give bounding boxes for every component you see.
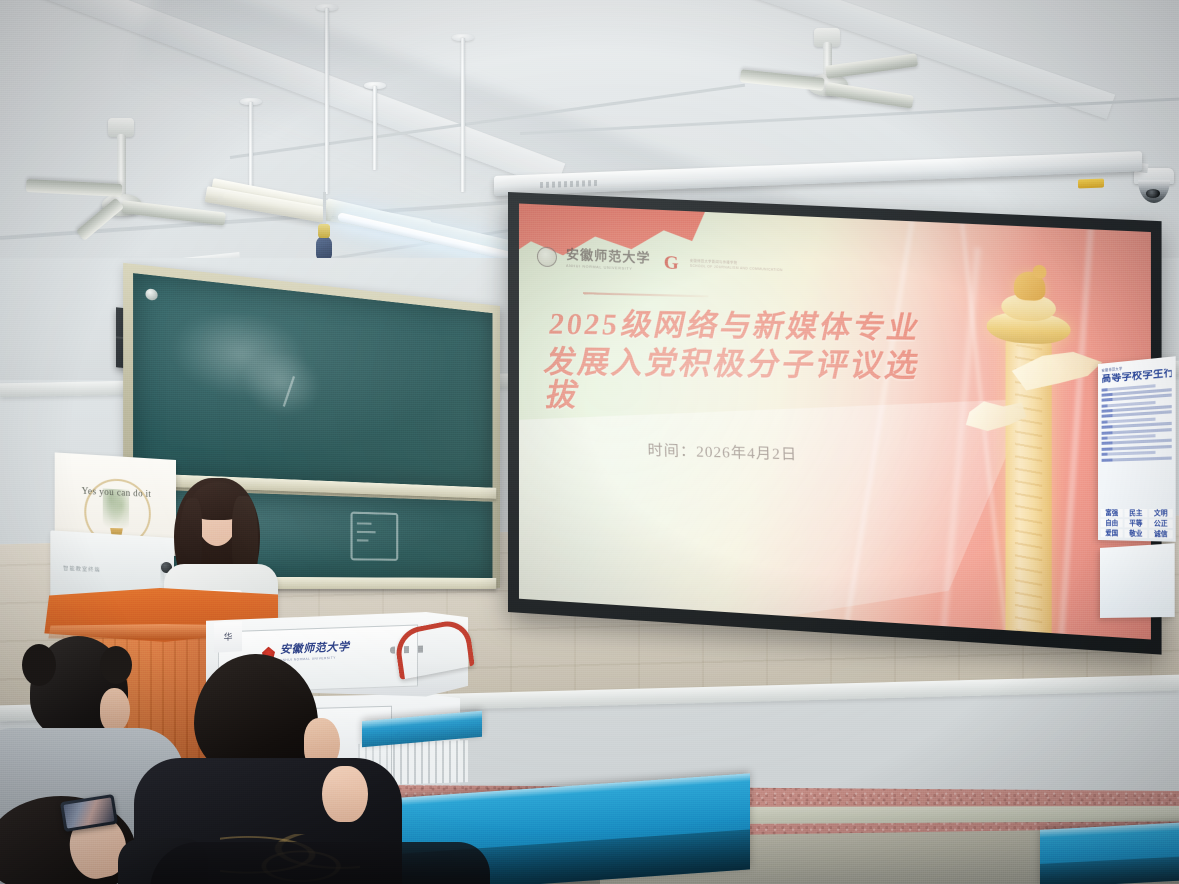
chalkboard-upper-panel <box>133 273 492 490</box>
slide-logo-name-cn: 安徽师范大学 <box>566 248 651 265</box>
value-cell: 敬业 <box>1124 529 1147 538</box>
slide-title-line-1: 2025级网络与新媒体专业 <box>549 309 950 346</box>
value-cell: 爱国 <box>1101 529 1123 538</box>
value-cell: 公正 <box>1149 519 1173 528</box>
hanger-rod-4 <box>461 38 465 192</box>
curly-hair-tuft <box>22 644 56 686</box>
hanger-rod-3 <box>373 86 377 170</box>
slide-university-logo: 安徽师范大学 ANHUI NORMAL UNIVERSITY G 安徽师范大学新… <box>537 246 783 278</box>
slide-title: 2025级网络与新媒体专业 发展入党积极分子评议选拔 <box>549 301 949 425</box>
value-cell: 平等 <box>1124 519 1147 528</box>
student-1-face <box>100 688 130 732</box>
university-seal-icon <box>537 246 557 267</box>
cabinet-label: 智能教室终端 <box>63 565 100 574</box>
core-socialist-values: 富强 民主 文明 自由 平等 公正 爱国 敬业 诚信 <box>1101 509 1173 539</box>
console-sticker: 华 <box>214 621 242 652</box>
phone-screen <box>63 797 114 828</box>
huabiao-column-icon <box>964 246 1090 639</box>
curly-hair-tuft-2 <box>100 646 132 684</box>
student-desk-front-right <box>1040 822 1179 884</box>
poster-slogan: Yes you can do it <box>65 485 166 500</box>
hanger-rod-2 <box>325 8 329 194</box>
value-cell: 民主 <box>1124 509 1147 518</box>
foreground-silhouette <box>150 842 490 884</box>
projection-screen: 安徽师范大学 ANHUI NORMAL UNIVERSITY G 安徽师范大学新… <box>508 192 1162 655</box>
slide-divider-rule <box>583 292 708 297</box>
slide-title-line-2: 发展入党积极分子评议选拔 <box>542 346 944 417</box>
value-cell: 诚信 <box>1149 529 1173 538</box>
value-cell: 文明 <box>1149 509 1173 518</box>
value-cell: 自由 <box>1101 519 1123 528</box>
slide-logo-g-mark: G <box>664 253 679 273</box>
pull-switch-clip <box>318 224 330 238</box>
secondary-wall-poster <box>1100 543 1175 618</box>
student-2-hand <box>322 766 368 822</box>
slide-date-label: 时间：2026年4月2日 <box>647 439 797 465</box>
student-code-poster: 安徽师范大学 高等学校学生行为准则 富强 民主 文明 自由 平等 公正 爱国 敬… <box>1098 356 1176 542</box>
ceiling-fan-left <box>82 118 252 248</box>
board-knob <box>145 288 157 301</box>
ceiling-fan-right <box>740 28 920 138</box>
roller-warning-tag <box>1078 179 1104 189</box>
value-cell: 富强 <box>1101 509 1123 518</box>
poster-body-text <box>1102 382 1172 461</box>
classroom-photo: 安徽师范大学 ANHUI NORMAL UNIVERSITY G 安徽师范大学新… <box>0 0 1179 884</box>
dome-security-camera-right <box>1134 168 1174 202</box>
presentation-slide: 安徽师范大学 ANHUI NORMAL UNIVERSITY G 安徽师范大学新… <box>519 203 1151 639</box>
